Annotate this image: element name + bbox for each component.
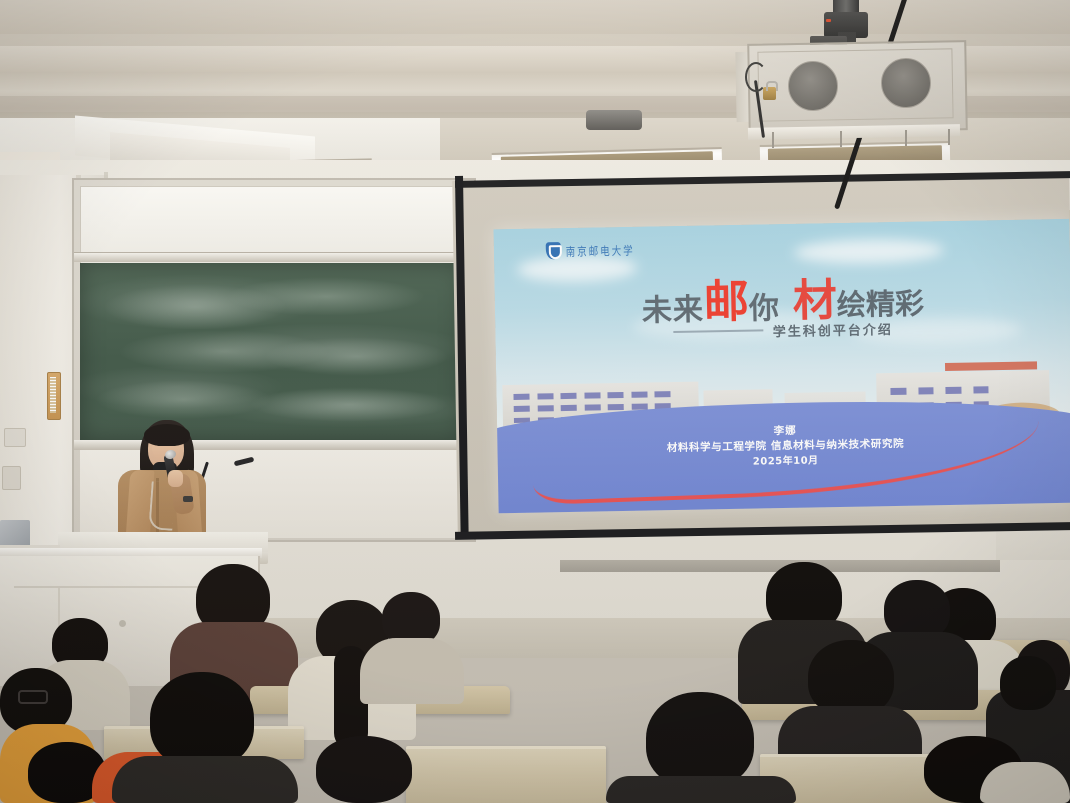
desk-row-1 xyxy=(406,746,606,803)
shield-icon xyxy=(546,242,561,259)
student-body xyxy=(606,776,796,803)
slide-subtitle: 学生科创平台介绍 xyxy=(773,319,893,340)
padlock-shackle xyxy=(766,81,778,91)
logo-text: 南京邮电大学 xyxy=(566,241,635,260)
projector-led-icon xyxy=(826,19,831,22)
presentation-slide: 南京邮电大学 未来邮你材绘精彩 学生科创平台介绍 李娜 材料科学与工程学院 信息… xyxy=(493,219,1070,514)
chalk-smear xyxy=(95,380,272,419)
student-body xyxy=(112,756,298,803)
student-head xyxy=(884,580,950,640)
wall-outlet[interactable] xyxy=(2,466,21,490)
subtitle-rule xyxy=(674,329,764,333)
title-part-7: 彩 xyxy=(895,286,925,321)
wristwatch-icon xyxy=(183,496,193,502)
title-part-6: 精 xyxy=(866,287,896,322)
ceiling-sensor-icon xyxy=(586,110,642,130)
cage-pin xyxy=(772,132,774,148)
chalk-rail xyxy=(74,440,472,450)
student-head xyxy=(150,672,254,768)
presenter-hair-fringe xyxy=(144,424,190,446)
eyeglasses-icon xyxy=(18,690,48,704)
student-head xyxy=(808,640,894,716)
student-head xyxy=(646,692,754,788)
chalk-smear xyxy=(226,277,426,316)
cage-pin xyxy=(948,129,950,145)
thermometer-scale xyxy=(50,377,56,413)
cage-pin xyxy=(905,130,907,146)
podium-knob[interactable] xyxy=(119,620,126,627)
cage-pin xyxy=(840,131,842,147)
wall-outlet[interactable] xyxy=(4,428,26,447)
ceiling-beam xyxy=(0,0,1070,34)
chalk-rail xyxy=(74,252,472,262)
presenter-hand xyxy=(168,470,183,487)
chalkboard-left xyxy=(80,263,464,440)
student-body xyxy=(360,638,464,704)
title-part-2: 邮 xyxy=(703,274,749,328)
title-part-5: 绘 xyxy=(837,287,867,322)
projector-wire-coil xyxy=(745,62,767,92)
university-logo: 南京邮电大学 xyxy=(546,241,635,260)
student-head xyxy=(316,736,412,803)
lecture-hall-photo: 南京邮电大学 未来邮你材绘精彩 学生科创平台介绍 李娜 材料科学与工程学院 信息… xyxy=(0,0,1070,803)
chalk-smear xyxy=(264,337,448,376)
student-head xyxy=(1000,656,1056,710)
chalk-smear xyxy=(249,387,449,422)
